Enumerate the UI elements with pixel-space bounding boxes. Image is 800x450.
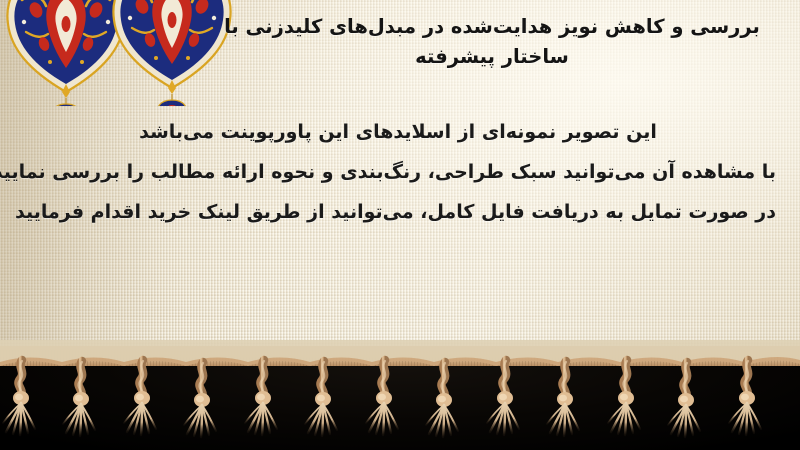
body-line-3: در صورت تمایل به دریافت فایل کامل، می‌تو… — [20, 192, 776, 232]
slide-title-line-2: ساختار پیشرفته — [202, 42, 782, 72]
body-line-1: این تصویر نمونه‌ای از اسلایدهای این پاور… — [20, 112, 776, 152]
slide-body: این تصویر نمونه‌ای از اسلایدهای این پاور… — [20, 112, 776, 232]
body-line-2: با مشاهده آن می‌توانید سبک طراحی، رنگ‌بن… — [20, 152, 776, 192]
bottom-black-band — [0, 366, 800, 450]
slide-title: بررسی و کاهش نویز هدایت‌شده در مبدل‌های … — [202, 12, 782, 72]
carpet-edge-binding — [0, 350, 800, 366]
slide-canvas: بررسی و کاهش نویز هدایت‌شده در مبدل‌های … — [0, 0, 800, 450]
slide-title-line-1: بررسی و کاهش نویز هدایت‌شده در مبدل‌های … — [202, 12, 782, 42]
